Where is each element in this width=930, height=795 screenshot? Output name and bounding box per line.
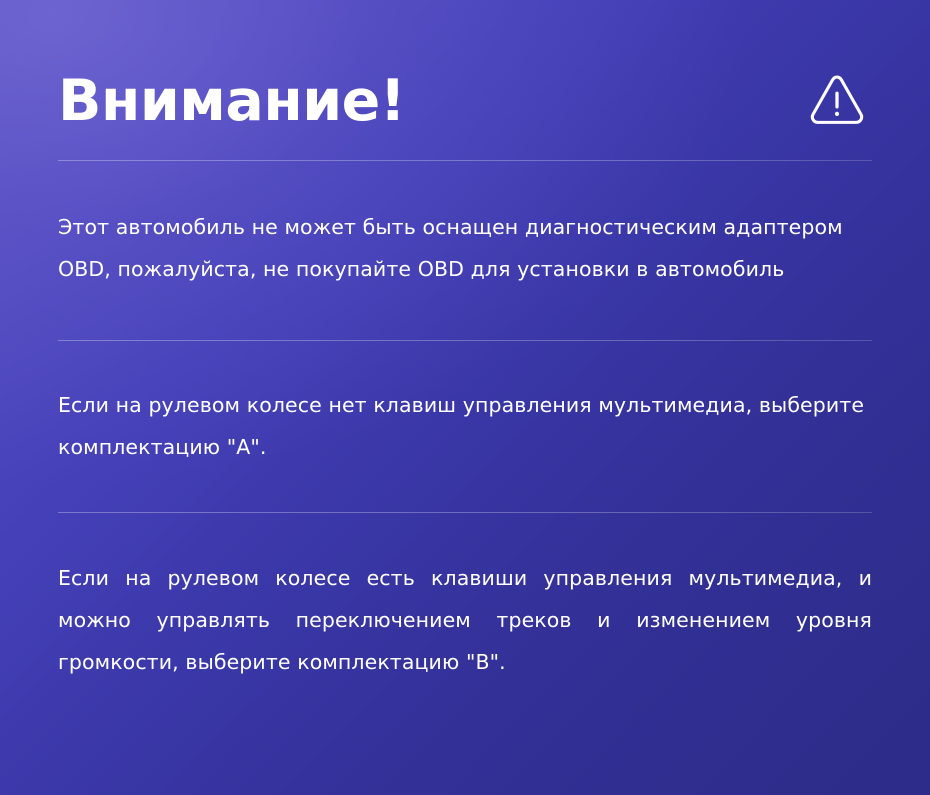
- notice-block-trim-b: Если на рулевом колесе есть клавиши упра…: [58, 513, 872, 731]
- notice-block-obd-warning: Этот автомобиль не может быть оснащен ди…: [58, 161, 872, 340]
- page-title: Внимание!: [58, 73, 405, 130]
- notice-text: Если на рулевом колесе есть клавиши упра…: [58, 557, 872, 683]
- notice-text: Этот автомобиль не может быть оснащен ди…: [58, 206, 872, 290]
- warning-triangle-icon: [808, 72, 866, 130]
- notice-text: Если на рулевом колесе нет клавиш управл…: [58, 384, 872, 468]
- notice-header: Внимание!: [58, 0, 872, 160]
- warning-notice-card: Внимание! Этот автомобиль не может быть …: [0, 0, 930, 795]
- notice-block-trim-a: Если на рулевом колесе нет клавиш управл…: [58, 341, 872, 512]
